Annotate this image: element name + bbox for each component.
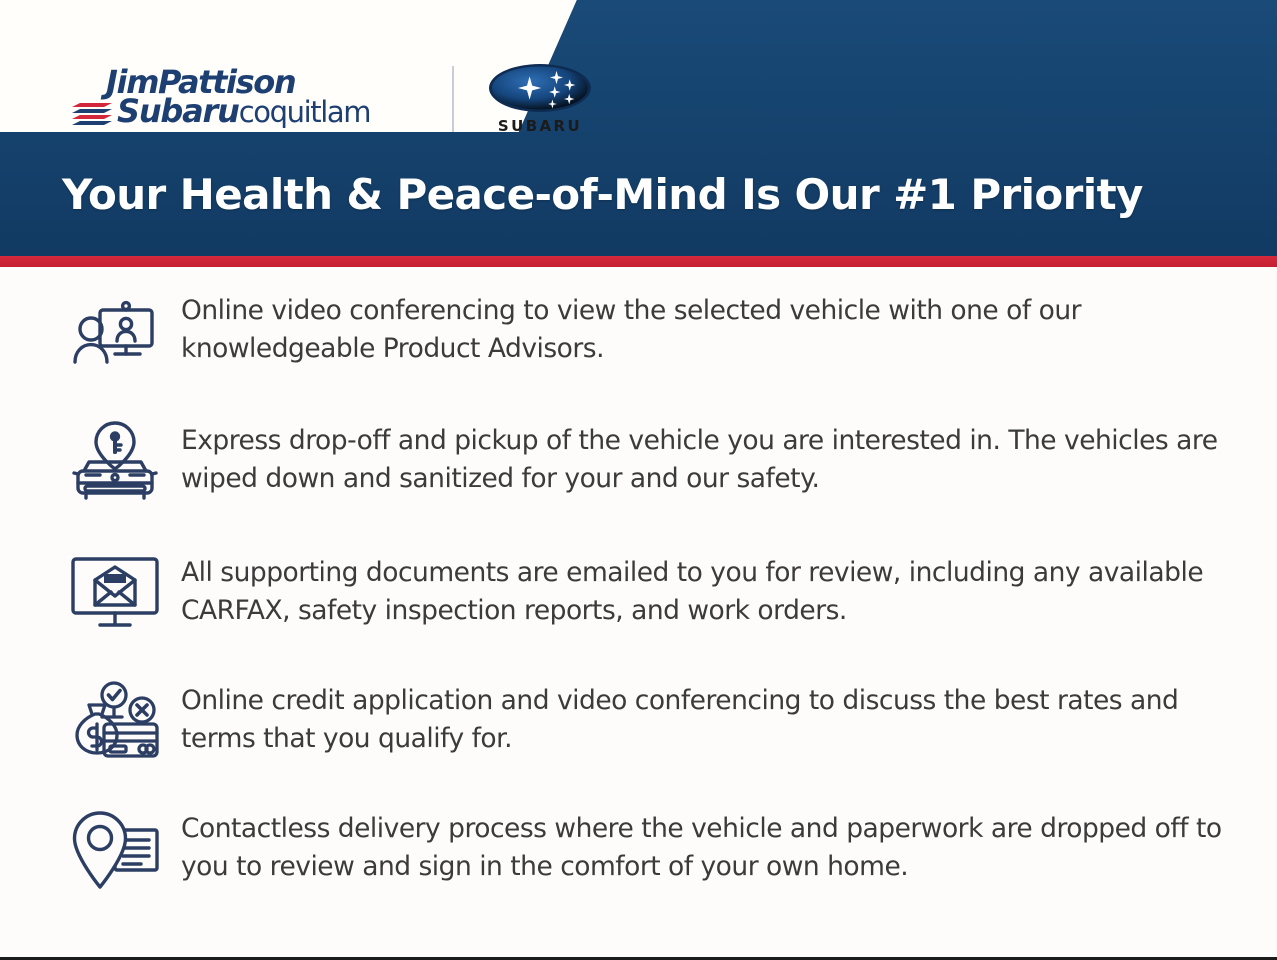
email-monitor-icon [55,542,175,646]
header-band: JimPattison Subarucoquitlam [0,0,1277,256]
brand-lockup: JimPattison Subarucoquitlam [70,62,592,135]
list-item-text: Online video conferencing to view the se… [175,280,1237,367]
dealer-logo: JimPattison Subarucoquitlam [70,66,390,132]
list-item-text: All supporting documents are emailed to … [175,542,1237,629]
page-title: Your Health & Peace-of-Mind Is Our #1 Pr… [62,170,1143,219]
list-item-text: Express drop-off and pickup of the vehic… [175,410,1237,497]
subaru-six-star-icon [488,62,592,114]
feature-list: Online video conferencing to view the se… [0,280,1277,960]
promo-slide: JimPattison Subarucoquitlam [0,0,1277,960]
credit-money-icon [55,670,175,774]
video-conference-icon [55,280,175,384]
list-item-text: Online credit application and video conf… [175,670,1237,757]
list-item: Online video conferencing to view the se… [0,280,1277,384]
location-document-icon [55,798,175,902]
dealer-subaru-word: Subaru [117,92,239,130]
red-accent-rule [0,256,1277,267]
car-key-pin-icon [55,410,175,514]
list-item: Express drop-off and pickup of the vehic… [0,410,1277,514]
logo-divider [452,66,454,132]
subaru-brand-mark: SUBARU [488,62,592,135]
subaru-wordmark: SUBARU [498,117,582,135]
list-item: Contactless delivery process where the v… [0,798,1277,938]
list-item: Online credit application and video conf… [0,670,1277,774]
dealer-city-word: coquitlam [239,95,370,129]
dealer-name-line2: Subarucoquitlam [117,95,370,127]
list-item-text: Contactless delivery process where the v… [175,798,1237,885]
list-item: All supporting documents are emailed to … [0,542,1277,646]
